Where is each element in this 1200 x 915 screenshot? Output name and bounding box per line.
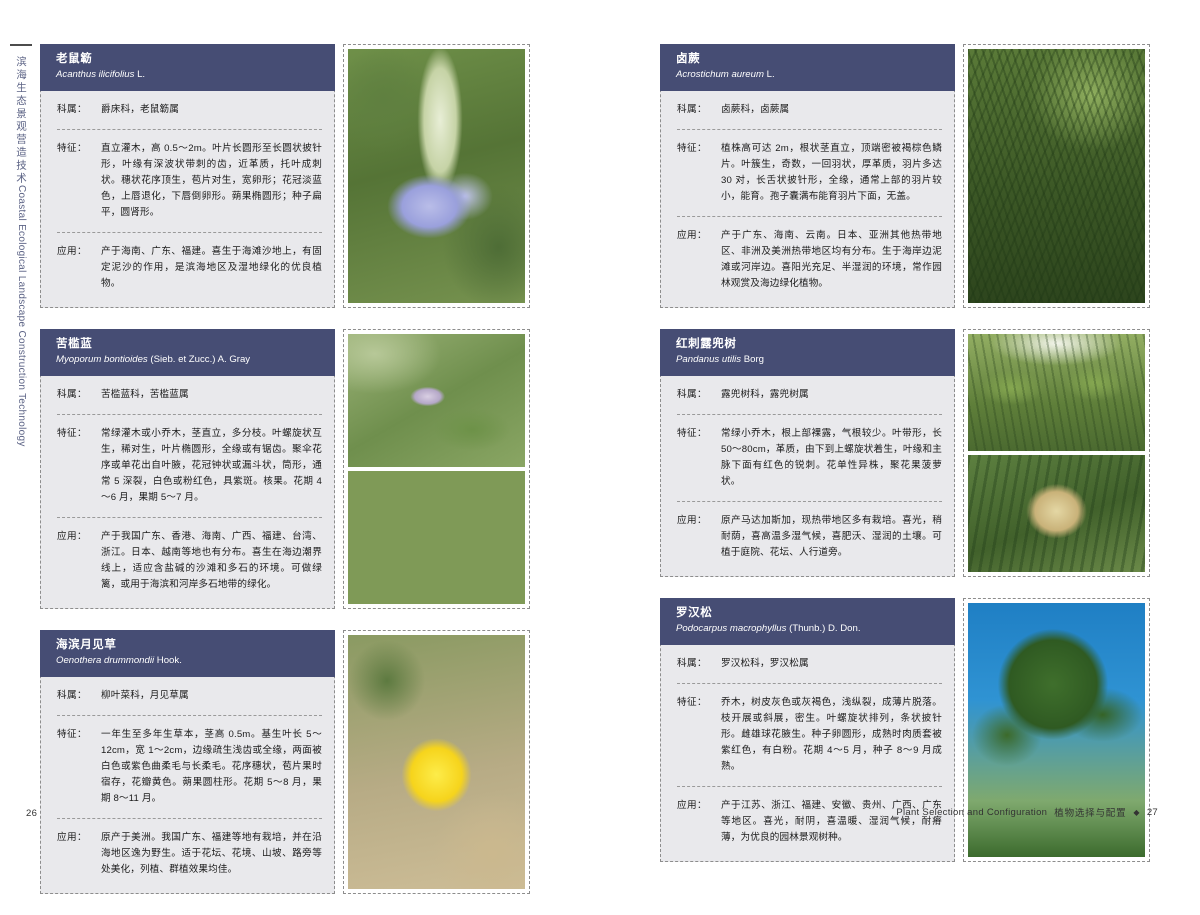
value-features: 常绿灌木或小乔木，茎直立，多分枝。叶螺旋状互生，稀对生，叶片椭圆形，全缘或有锯齿… bbox=[101, 426, 322, 506]
row-application: 应用： 产于海南、广东、福建。喜生于海滩沙地上，有固定泥沙的作用，是滨海地区及湿… bbox=[57, 232, 322, 303]
plant-card-header: 苦槛蓝 Myoporum bontioides (Sieb. et Zucc.)… bbox=[40, 329, 335, 376]
plant-card: 海滨月见草 Oenothera drummondii Hook. 科属： 柳叶菜… bbox=[40, 630, 530, 894]
label-features: 特征： bbox=[677, 426, 721, 442]
plant-card-media bbox=[343, 329, 530, 609]
plant-name-latin: Acanthus ilicifolius bbox=[56, 69, 134, 80]
plant-card-body: 科属： 苦槛蓝科，苦槛蓝属 特征： 常绿灌木或小乔木，茎直立，多分枝。叶螺旋状互… bbox=[41, 376, 334, 608]
plant-card: 红刺露兜树 Pandanus utilis Borg 科属： 露兜树科，露兜树属… bbox=[660, 329, 1150, 577]
plant-card-text: 苦槛蓝 Myoporum bontioides (Sieb. et Zucc.)… bbox=[40, 329, 335, 609]
plant-card-header: 卤蕨 Acrostichum aureum L. bbox=[660, 44, 955, 91]
plant-name-scientific: Podocarpus macrophyllus (Thunb.) D. Don. bbox=[676, 622, 943, 636]
value-family: 爵床科，老鼠簕属 bbox=[101, 102, 322, 118]
row-features: 特征： 一年生至多年生草本，茎高 0.5m。基生叶长 5～12cm，宽 1～2c… bbox=[57, 715, 322, 818]
value-features: 植株高可达 2m，根状茎直立，顶端密被褐棕色鳞片。叶簇生，奇数，一回羽状，厚革质… bbox=[721, 141, 942, 205]
label-family: 科属： bbox=[677, 656, 721, 672]
plant-name-scientific: Pandanus utilis Borg bbox=[676, 353, 943, 367]
folio-page-number-left: 26 bbox=[26, 808, 37, 819]
plant-photo-oenothera bbox=[348, 635, 525, 889]
page-right: 卤蕨 Acrostichum aureum L. 科属： 卤蕨科，卤蕨属 特征：… bbox=[600, 0, 1200, 847]
label-family: 科属： bbox=[677, 387, 721, 403]
plant-card-text: 红刺露兜树 Pandanus utilis Borg 科属： 露兜树科，露兜树属… bbox=[660, 329, 955, 577]
row-family: 科属： 柳叶菜科，月见草属 bbox=[57, 677, 322, 715]
diamond-icon: ◆ bbox=[1133, 808, 1139, 817]
plant-card: 老鼠簕 Acanthus ilicifolius L. 科属： 爵床科，老鼠簕属… bbox=[40, 44, 530, 308]
value-features: 直立灌木，高 0.5～2m。叶片长圆形至长圆状披针形，叶缘有深波状带刺的齿，近革… bbox=[101, 141, 322, 221]
plant-name-scientific: Oenothera drummondii Hook. bbox=[56, 654, 323, 668]
value-family: 罗汉松科，罗汉松属 bbox=[721, 656, 942, 672]
value-features: 一年生至多年生草本，茎高 0.5m。基生叶长 5～12cm，宽 1～2cm，边缘… bbox=[101, 727, 322, 807]
value-family: 露兜树科，露兜树属 bbox=[721, 387, 942, 403]
plant-name-authority: Hook. bbox=[157, 655, 182, 666]
plant-photo-myoporum-fruit bbox=[348, 471, 525, 604]
plant-name-cn: 卤蕨 bbox=[676, 52, 943, 67]
label-family: 科属： bbox=[677, 102, 721, 118]
plant-card-media bbox=[343, 630, 530, 894]
plant-card-body: 科属： 露兜树科，露兜树属 特征： 常绿小乔木，根上部裸露，气根较少。叶带形，长… bbox=[661, 376, 954, 576]
value-features: 常绿小乔木，根上部裸露，气根较少。叶带形，长 50～80cm，革质，由下到上螺旋… bbox=[721, 426, 942, 490]
label-family: 科属： bbox=[57, 102, 101, 118]
plant-card-text: 卤蕨 Acrostichum aureum L. 科属： 卤蕨科，卤蕨属 特征：… bbox=[660, 44, 955, 308]
plant-name-authority: L. bbox=[767, 69, 775, 80]
label-features: 特征： bbox=[57, 727, 101, 743]
value-application: 原产马达加斯加，现热带地区多有栽培。喜光，稍耐荫，喜高温多湿气候，喜肥沃、湿润的… bbox=[721, 513, 942, 561]
plant-card: 苦槛蓝 Myoporum bontioides (Sieb. et Zucc.)… bbox=[40, 329, 530, 609]
plant-card-media bbox=[963, 598, 1150, 862]
plant-card-header: 罗汉松 Podocarpus macrophyllus (Thunb.) D. … bbox=[660, 598, 955, 645]
label-features: 特征： bbox=[677, 141, 721, 157]
plant-card-body: 科属： 爵床科，老鼠簕属 特征： 直立灌木，高 0.5～2m。叶片长圆形至长圆状… bbox=[41, 91, 334, 307]
label-application: 应用： bbox=[57, 529, 101, 545]
plant-name-authority: (Thunb.) D. Don. bbox=[789, 623, 860, 634]
row-family: 科属： 罗汉松科，罗汉松属 bbox=[677, 645, 942, 683]
plant-name-authority: (Sieb. et Zucc.) A. Gray bbox=[150, 354, 250, 365]
running-foot-cn: 植物选择与配置 bbox=[1054, 805, 1126, 819]
row-application: 应用： 原产于美洲。我国广东、福建等地有栽培，并在沿海地区逸为野生。适于花坛、花… bbox=[57, 818, 322, 889]
row-family: 科属： 卤蕨科，卤蕨属 bbox=[677, 91, 942, 129]
label-application: 应用： bbox=[57, 244, 101, 260]
plant-card-header: 老鼠簕 Acanthus ilicifolius L. bbox=[40, 44, 335, 91]
plant-name-latin: Myoporum bontioides bbox=[56, 354, 148, 365]
folio-page-number-right: 27 bbox=[1147, 807, 1158, 818]
value-application: 原产于美洲。我国广东、福建等地有栽培，并在沿海地区逸为野生。适于花坛、花境、山坡… bbox=[101, 830, 322, 878]
plant-card-body: 科属： 罗汉松科，罗汉松属 特征： 乔木，树皮灰色或灰褐色，浅纵裂，成薄片脱落。… bbox=[661, 645, 954, 861]
plant-photo-pandanus-fruit bbox=[968, 455, 1145, 572]
row-application: 应用： 原产马达加斯加，现热带地区多有栽培。喜光，稍耐荫，喜高温多湿气候，喜肥沃… bbox=[677, 501, 942, 572]
label-features: 特征： bbox=[57, 426, 101, 442]
plant-photo-myoporum-flower bbox=[348, 334, 525, 467]
row-features: 特征： 常绿小乔木，根上部裸露，气根较少。叶带形，长 50～80cm，革质，由下… bbox=[677, 414, 942, 501]
label-application: 应用： bbox=[57, 830, 101, 846]
plant-name-cn: 老鼠簕 bbox=[56, 52, 323, 67]
plant-name-cn: 海滨月见草 bbox=[56, 638, 323, 653]
value-features: 乔木，树皮灰色或灰褐色，浅纵裂，成薄片脱落。枝开展或斜展，密生。叶螺旋状排列，条… bbox=[721, 695, 942, 775]
row-family: 科属： 爵床科，老鼠簕属 bbox=[57, 91, 322, 129]
card-list-right: 卤蕨 Acrostichum aureum L. 科属： 卤蕨科，卤蕨属 特征：… bbox=[660, 44, 1150, 883]
running-foot-en: Plant Selection and Configuration bbox=[896, 807, 1047, 818]
label-application: 应用： bbox=[677, 798, 721, 814]
label-application: 应用： bbox=[677, 228, 721, 244]
row-application: 应用： 产于江苏、浙江、福建、安徽、贵州、广西、广东等地区。喜光，耐阴，喜温暖、… bbox=[677, 786, 942, 857]
value-family: 柳叶菜科，月见草属 bbox=[101, 688, 322, 704]
plant-card: 卤蕨 Acrostichum aureum L. 科属： 卤蕨科，卤蕨属 特征：… bbox=[660, 44, 1150, 308]
plant-card-media bbox=[343, 44, 530, 308]
plant-name-latin: Podocarpus macrophyllus bbox=[676, 623, 786, 634]
folio-right: Plant Selection and Configuration 植物选择与配… bbox=[896, 805, 1158, 819]
plant-photo-acrostichum bbox=[968, 49, 1145, 303]
value-family: 苦槛蓝科，苦槛蓝属 bbox=[101, 387, 322, 403]
plant-card-text: 海滨月见草 Oenothera drummondii Hook. 科属： 柳叶菜… bbox=[40, 630, 335, 894]
plant-photo-acanthus bbox=[348, 49, 525, 303]
plant-card-media bbox=[963, 329, 1150, 577]
plant-name-cn: 罗汉松 bbox=[676, 606, 943, 621]
value-family: 卤蕨科，卤蕨属 bbox=[721, 102, 942, 118]
value-application: 产于我国广东、香港、海南、广西、福建、台湾、浙江。日本、越南等地也有分布。喜生在… bbox=[101, 529, 322, 593]
plant-card-media bbox=[963, 44, 1150, 308]
value-application: 产于海南、广东、福建。喜生于海滩沙地上，有固定泥沙的作用，是滨海地区及湿地绿化的… bbox=[101, 244, 322, 292]
row-features: 特征： 常绿灌木或小乔木，茎直立，多分枝。叶螺旋状互生，稀对生，叶片椭圆形，全缘… bbox=[57, 414, 322, 517]
row-features: 特征： 直立灌木，高 0.5～2m。叶片长圆形至长圆状披针形，叶缘有深波状带刺的… bbox=[57, 129, 322, 232]
plant-card-header: 海滨月见草 Oenothera drummondii Hook. bbox=[40, 630, 335, 677]
plant-name-scientific: Myoporum bontioides (Sieb. et Zucc.) A. … bbox=[56, 353, 323, 367]
row-application: 应用： 产于我国广东、香港、海南、广西、福建、台湾、浙江。日本、越南等地也有分布… bbox=[57, 517, 322, 604]
plant-name-scientific: Acrostichum aureum L. bbox=[676, 68, 943, 82]
plant-card-body: 科属： 卤蕨科，卤蕨属 特征： 植株高可达 2m，根状茎直立，顶端密被褐棕色鳞片… bbox=[661, 91, 954, 307]
card-list-left: 老鼠簕 Acanthus ilicifolius L. 科属： 爵床科，老鼠簕属… bbox=[40, 44, 530, 915]
plant-name-scientific: Acanthus ilicifolius L. bbox=[56, 68, 323, 82]
plant-name-cn: 红刺露兜树 bbox=[676, 337, 943, 352]
plant-name-cn: 苦槛蓝 bbox=[56, 337, 323, 352]
label-family: 科属： bbox=[57, 387, 101, 403]
plant-card-body: 科属： 柳叶菜科，月见草属 特征： 一年生至多年生草本，茎高 0.5m。基生叶长… bbox=[41, 677, 334, 893]
label-features: 特征： bbox=[677, 695, 721, 711]
page-spread: 老鼠簕 Acanthus ilicifolius L. 科属： 爵床科，老鼠簕属… bbox=[0, 0, 1200, 847]
plant-photo-pandanus-habit bbox=[968, 334, 1145, 451]
row-family: 科属： 苦槛蓝科，苦槛蓝属 bbox=[57, 376, 322, 414]
row-features: 特征： 乔木，树皮灰色或灰褐色，浅纵裂，成薄片脱落。枝开展或斜展，密生。叶螺旋状… bbox=[677, 683, 942, 786]
page-left: 老鼠簕 Acanthus ilicifolius L. 科属： 爵床科，老鼠簕属… bbox=[0, 0, 600, 847]
value-application: 产于广东、海南、云南。日本、亚洲其他热带地区、非洲及美洲热带地区均有分布。生于海… bbox=[721, 228, 942, 292]
plant-card-header: 红刺露兜树 Pandanus utilis Borg bbox=[660, 329, 955, 376]
plant-name-authority: Borg bbox=[744, 354, 764, 365]
row-application: 应用： 产于广东、海南、云南。日本、亚洲其他热带地区、非洲及美洲热带地区均有分布… bbox=[677, 216, 942, 303]
plant-card-text: 老鼠簕 Acanthus ilicifolius L. 科属： 爵床科，老鼠簕属… bbox=[40, 44, 335, 308]
plant-card: 罗汉松 Podocarpus macrophyllus (Thunb.) D. … bbox=[660, 598, 1150, 862]
plant-card-text: 罗汉松 Podocarpus macrophyllus (Thunb.) D. … bbox=[660, 598, 955, 862]
plant-name-latin: Oenothera drummondii bbox=[56, 655, 154, 666]
plant-name-latin: Pandanus utilis bbox=[676, 354, 741, 365]
row-features: 特征： 植株高可达 2m，根状茎直立，顶端密被褐棕色鳞片。叶簇生，奇数，一回羽状… bbox=[677, 129, 942, 216]
label-application: 应用： bbox=[677, 513, 721, 529]
row-family: 科属： 露兜树科，露兜树属 bbox=[677, 376, 942, 414]
plant-name-latin: Acrostichum aureum bbox=[676, 69, 764, 80]
label-family: 科属： bbox=[57, 688, 101, 704]
plant-name-authority: L. bbox=[137, 69, 145, 80]
label-features: 特征： bbox=[57, 141, 101, 157]
